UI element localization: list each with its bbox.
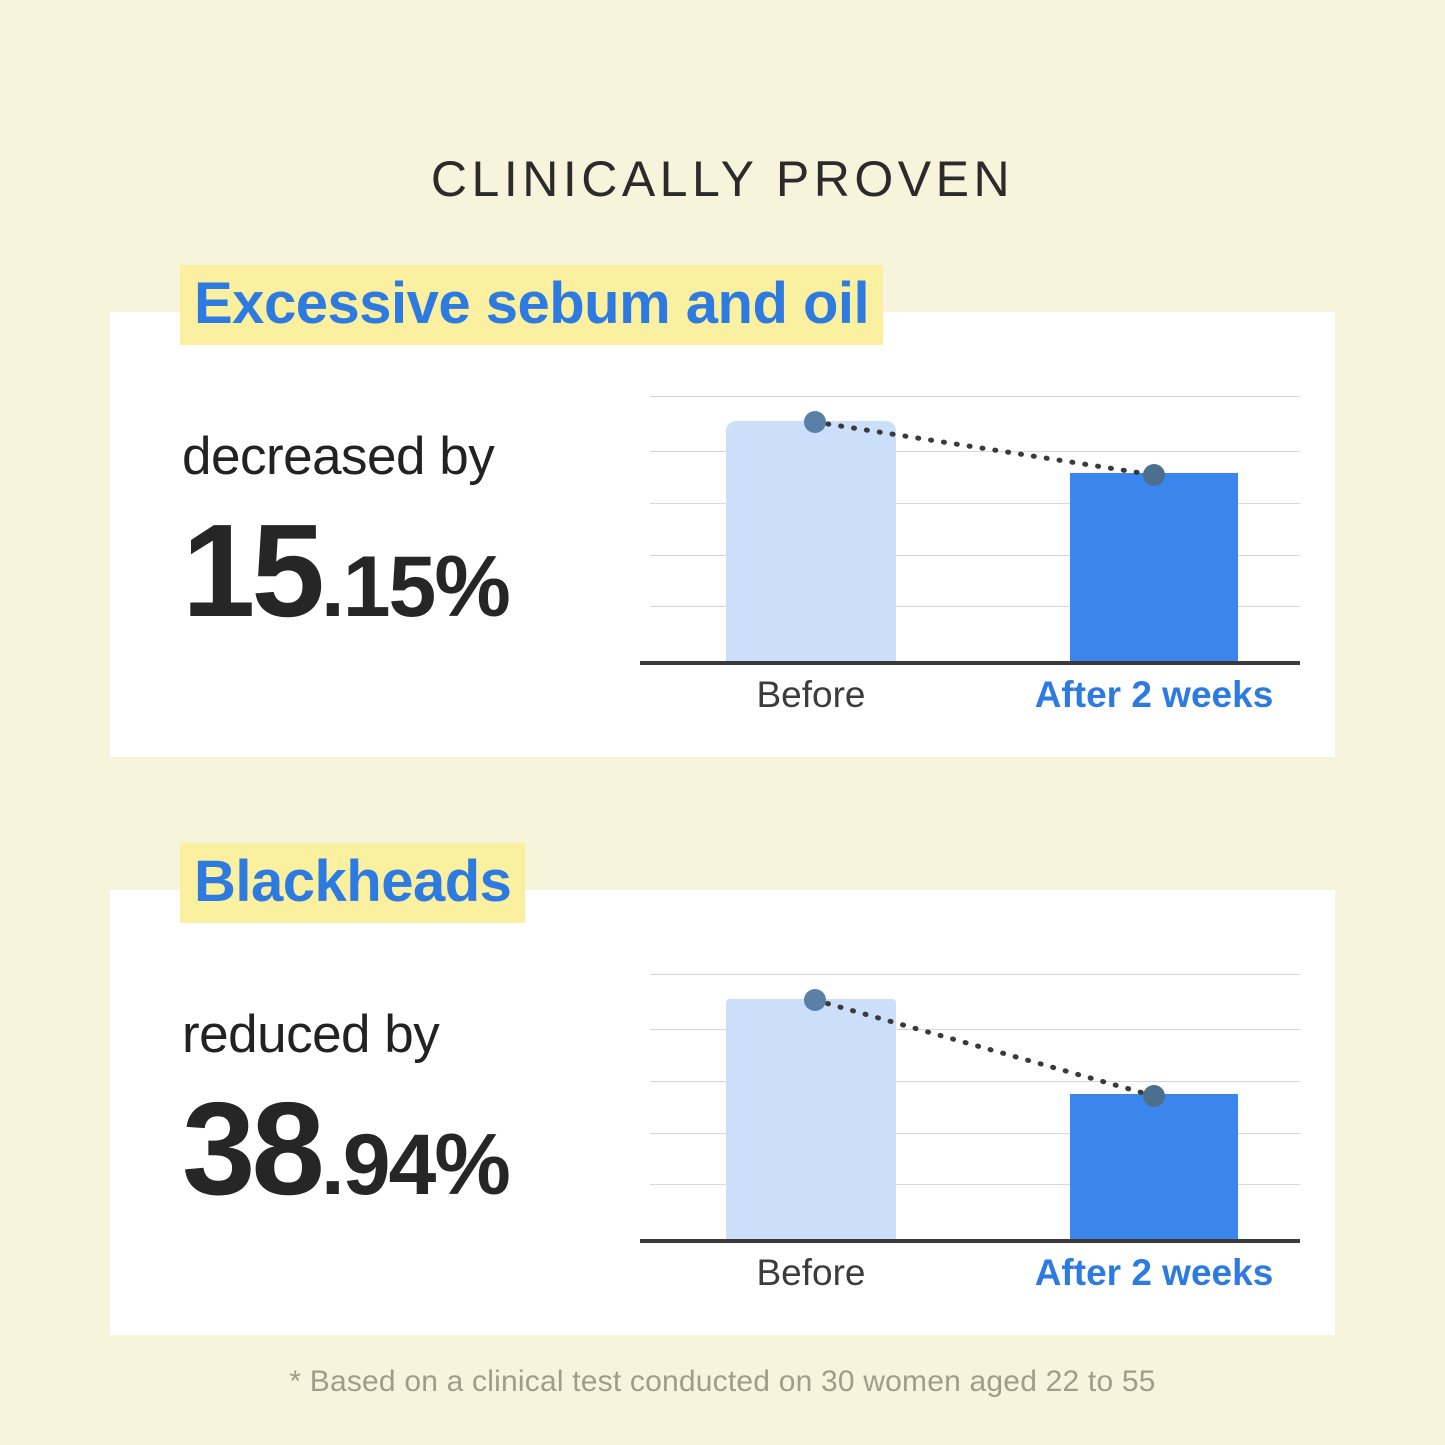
stat-label: reduced by <box>182 1008 652 1061</box>
stat-fraction: .15% <box>321 539 509 635</box>
section-blackheads: Blackheads reduced by 38.94% <box>110 890 1335 1335</box>
x-axis-line <box>640 661 1300 665</box>
gridline <box>650 974 1300 975</box>
stat-integer: 38 <box>182 1075 321 1222</box>
chart-x-labels: Before After 2 weeks <box>640 1251 1300 1301</box>
stat-fraction: .94% <box>321 1117 509 1213</box>
gridline <box>650 396 1300 397</box>
bar-before <box>726 999 896 1239</box>
stat-label: decreased by <box>182 430 652 483</box>
x-axis-line <box>640 1239 1300 1243</box>
section-heading-sebum: Excessive sebum and oil <box>180 265 883 345</box>
section-heading-blackheads: Blackheads <box>180 843 525 923</box>
section-heading-label: Blackheads <box>180 843 525 923</box>
section-heading-label: Excessive sebum and oil <box>180 265 883 345</box>
bar-after <box>1070 473 1238 661</box>
x-label-after: After 2 weeks <box>1024 1251 1284 1295</box>
stat-value: 15.15% <box>182 505 652 637</box>
page-title: CLINICALLY PROVEN <box>0 150 1445 208</box>
chart-plot-area <box>640 380 1300 665</box>
stat-block-sebum: decreased by 15.15% <box>182 430 652 637</box>
x-label-before: Before <box>726 673 896 717</box>
chart-x-labels: Before After 2 weeks <box>640 673 1300 723</box>
bar-chart-sebum: Before After 2 weeks <box>640 380 1300 720</box>
bar-chart-blackheads: Before After 2 weeks <box>640 958 1300 1298</box>
section-sebum: Excessive sebum and oil decreased by 15.… <box>110 312 1335 757</box>
bar-before <box>726 421 896 661</box>
infographic-page: CLINICALLY PROVEN Excessive sebum and oi… <box>0 0 1445 1445</box>
x-label-after: After 2 weeks <box>1024 673 1284 717</box>
stat-value: 38.94% <box>182 1083 652 1215</box>
bar-after <box>1070 1094 1238 1239</box>
stat-integer: 15 <box>182 497 321 644</box>
chart-plot-area <box>640 958 1300 1243</box>
footnote: * Based on a clinical test conducted on … <box>0 1365 1445 1399</box>
stat-block-blackheads: reduced by 38.94% <box>182 1008 652 1215</box>
x-label-before: Before <box>726 1251 896 1295</box>
